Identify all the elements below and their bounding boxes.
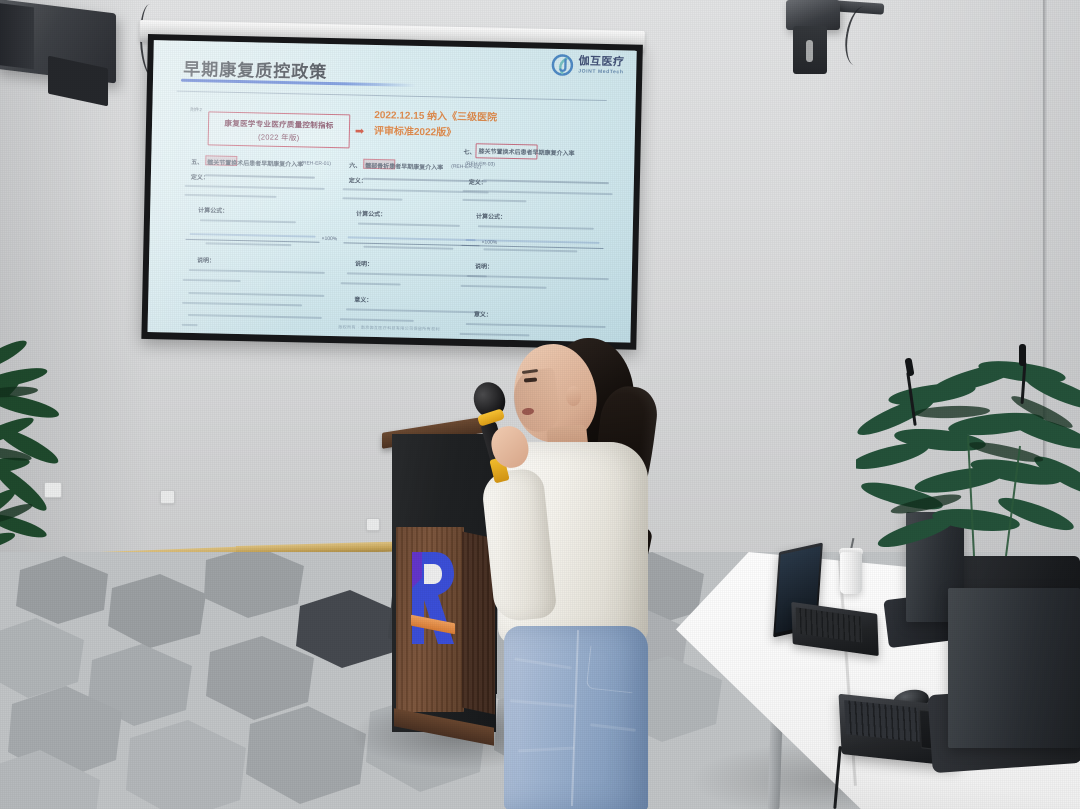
metric-1-body-line [189, 269, 325, 274]
presentation-room-photo: 伽互医疗 JOINT MedTech 早期康复质控政策 附件2 康复医学专业医疗… [0, 0, 1080, 809]
metric-2-body-line [342, 197, 402, 200]
metric-2-heading: 髋部骨折患者早期康复介入率 [365, 161, 443, 172]
metric-1-body-line [184, 194, 276, 198]
metric-3-body-line [483, 179, 609, 184]
logo-name-en: JOINT MedTech [578, 69, 624, 75]
metric-1-body-line [200, 219, 296, 223]
metric-1-section-formula: 计算公式： [198, 205, 228, 215]
flow-arrow-icon: ➡ [355, 127, 364, 138]
slide-surface: 伽互医疗 JOINT MedTech 早期康复质控政策 附件2 康复医学专业医疗… [147, 40, 636, 342]
metric-2-body-line [363, 246, 453, 250]
logo-name-cn: 伽互医疗 [578, 57, 624, 69]
metric-1-body-line [205, 174, 315, 178]
adoption-text-line2: 评审标准2022版》 [374, 125, 457, 140]
attachment-note: 附件2 [190, 107, 202, 113]
metric-1-body-line [188, 292, 324, 297]
metric-3-section-note: 说明： [475, 261, 493, 270]
metric-2-section-meaning: 意义： [354, 295, 372, 304]
metric-3-section-formula: 计算公式： [476, 211, 506, 221]
metric-2-section-formula: 计算公式： [356, 209, 386, 219]
metric-3-index: 七、 [463, 147, 475, 156]
slide-logo: 伽互医疗 JOINT MedTech [551, 54, 624, 78]
metric-2-body-line [340, 318, 414, 321]
planter-right-front [948, 588, 1080, 748]
joint-medtech-logo-icon [551, 54, 573, 76]
title-underline-thin [177, 91, 607, 101]
plant-left-foliage [0, 336, 120, 576]
presenter-jeans-pocket [586, 646, 637, 694]
wall-outlet-mid2 [366, 518, 380, 531]
metric-2-body-line [341, 282, 401, 285]
potted-plant-right [856, 316, 1080, 566]
metric-1-denominator [205, 242, 291, 245]
metric-2-body-line [358, 223, 460, 227]
speaker-grille [0, 3, 34, 70]
metric-1-heading: 髋关节置换术后患者早期康复介入率 [207, 157, 303, 168]
metric-1-body-line [185, 185, 325, 190]
metric-2-numerator [348, 236, 476, 241]
metric-1-numerator [190, 233, 316, 238]
camera-plate-slot [806, 40, 813, 62]
document-title-line1: 康复医学专业医疗质量控制指标 [209, 117, 349, 131]
metric-1-section-note: 说明： [197, 255, 215, 264]
metric-3-body-line [461, 285, 547, 288]
document-title-line2: (2022 年版) [209, 130, 349, 144]
microphone-stand-right-capsule [1019, 344, 1026, 366]
metric-2-body-line [347, 272, 487, 277]
presenter-ear [566, 386, 581, 406]
metric-2-section-note: 说明： [355, 259, 373, 268]
document-title-box: 康复医学专业医疗质量控制指标 (2022 年版) [208, 111, 351, 148]
metric-3-body-line [467, 275, 609, 280]
metric-1-multiplier: ×100% [322, 236, 338, 242]
metric-3-body-line [483, 248, 577, 252]
adoption-text-line1: 2022.12.15 纳入《三级医院 [374, 109, 497, 125]
metric-3-body-line [478, 225, 594, 229]
metric-3-code: (REH-ER-03) [465, 161, 495, 168]
metric-3-section-meaning: 意义： [474, 309, 492, 318]
metric-1-code: (REH-ER-01) [301, 160, 331, 167]
potted-plant-left [0, 336, 100, 566]
metric-3-body-line [462, 199, 526, 202]
presenter [470, 330, 680, 809]
wall-outlet-mid [160, 490, 175, 504]
metric-1-body-line [188, 314, 322, 319]
metric-1-index: 五、 [191, 157, 203, 166]
projection-screen: 伽互医疗 JOINT MedTech 早期康复质控政策 附件2 康复医学专业医疗… [141, 34, 643, 350]
metric-2-index: 六、 [349, 160, 361, 169]
plant-right-foliage [856, 316, 1080, 576]
metric-2-body-line [346, 308, 482, 313]
metric-1-body-line [183, 279, 241, 282]
metric-1-body-line [182, 302, 302, 306]
